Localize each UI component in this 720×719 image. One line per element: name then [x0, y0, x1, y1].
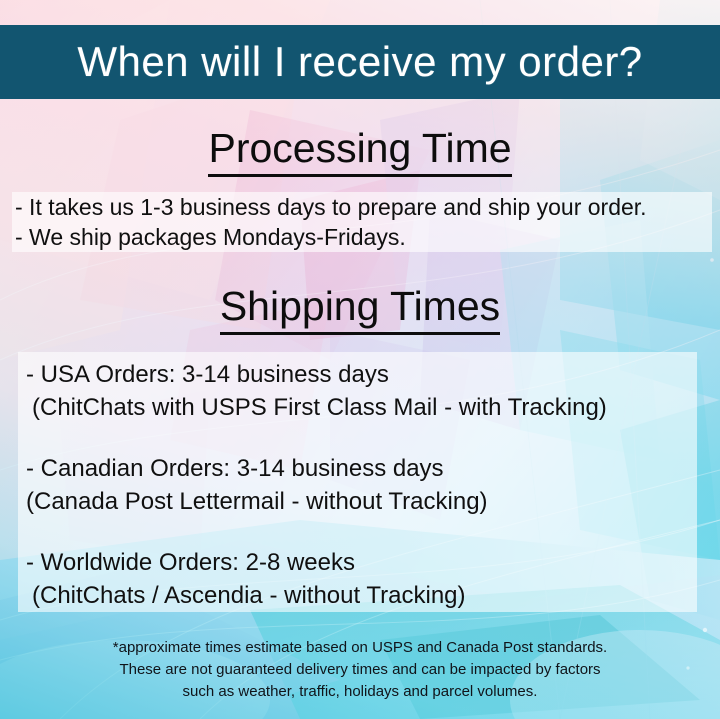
- shipping-worldwide-title: - Worldwide Orders: 2-8 weeks: [18, 546, 697, 579]
- shipping-times-panel: - USA Orders: 3-14 business days (ChitCh…: [18, 352, 697, 612]
- processing-time-panel: - It takes us 1-3 business days to prepa…: [12, 192, 712, 252]
- footnote-disclaimer: *approximate times estimate based on USP…: [0, 637, 720, 703]
- processing-time-heading-text: Processing Time: [208, 125, 511, 177]
- shipping-group-canada: - Canadian Orders: 3-14 business days (C…: [18, 452, 697, 518]
- shipping-usa-title: - USA Orders: 3-14 business days: [18, 358, 697, 391]
- page-title: When will I receive my order?: [77, 41, 642, 83]
- processing-time-line-2: - We ship packages Mondays-Fridays.: [12, 222, 712, 252]
- shipping-times-heading-text: Shipping Times: [220, 283, 500, 335]
- footnote-line-2: These are not guaranteed delivery times …: [0, 659, 720, 681]
- footnote-line-1: *approximate times estimate based on USP…: [0, 637, 720, 659]
- shipping-canada-title: - Canadian Orders: 3-14 business days: [18, 452, 697, 485]
- shipping-worldwide-detail: (ChitChats / Ascendia - without Tracking…: [18, 579, 697, 612]
- shipping-canada-detail: (Canada Post Lettermail - without Tracki…: [18, 485, 697, 518]
- shipping-group-worldwide: - Worldwide Orders: 2-8 weeks (ChitChats…: [18, 546, 697, 612]
- header-banner: When will I receive my order?: [0, 25, 720, 99]
- section-heading-processing-time: Processing Time: [0, 128, 720, 169]
- processing-time-line-1: - It takes us 1-3 business days to prepa…: [12, 192, 712, 222]
- shipping-usa-detail: (ChitChats with USPS First Class Mail - …: [18, 391, 697, 424]
- shipping-info-poster: When will I receive my order? Processing…: [0, 0, 720, 719]
- shipping-group-usa: - USA Orders: 3-14 business days (ChitCh…: [18, 358, 697, 424]
- footnote-line-3: such as weather, traffic, holidays and p…: [0, 681, 720, 703]
- section-heading-shipping-times: Shipping Times: [0, 286, 720, 327]
